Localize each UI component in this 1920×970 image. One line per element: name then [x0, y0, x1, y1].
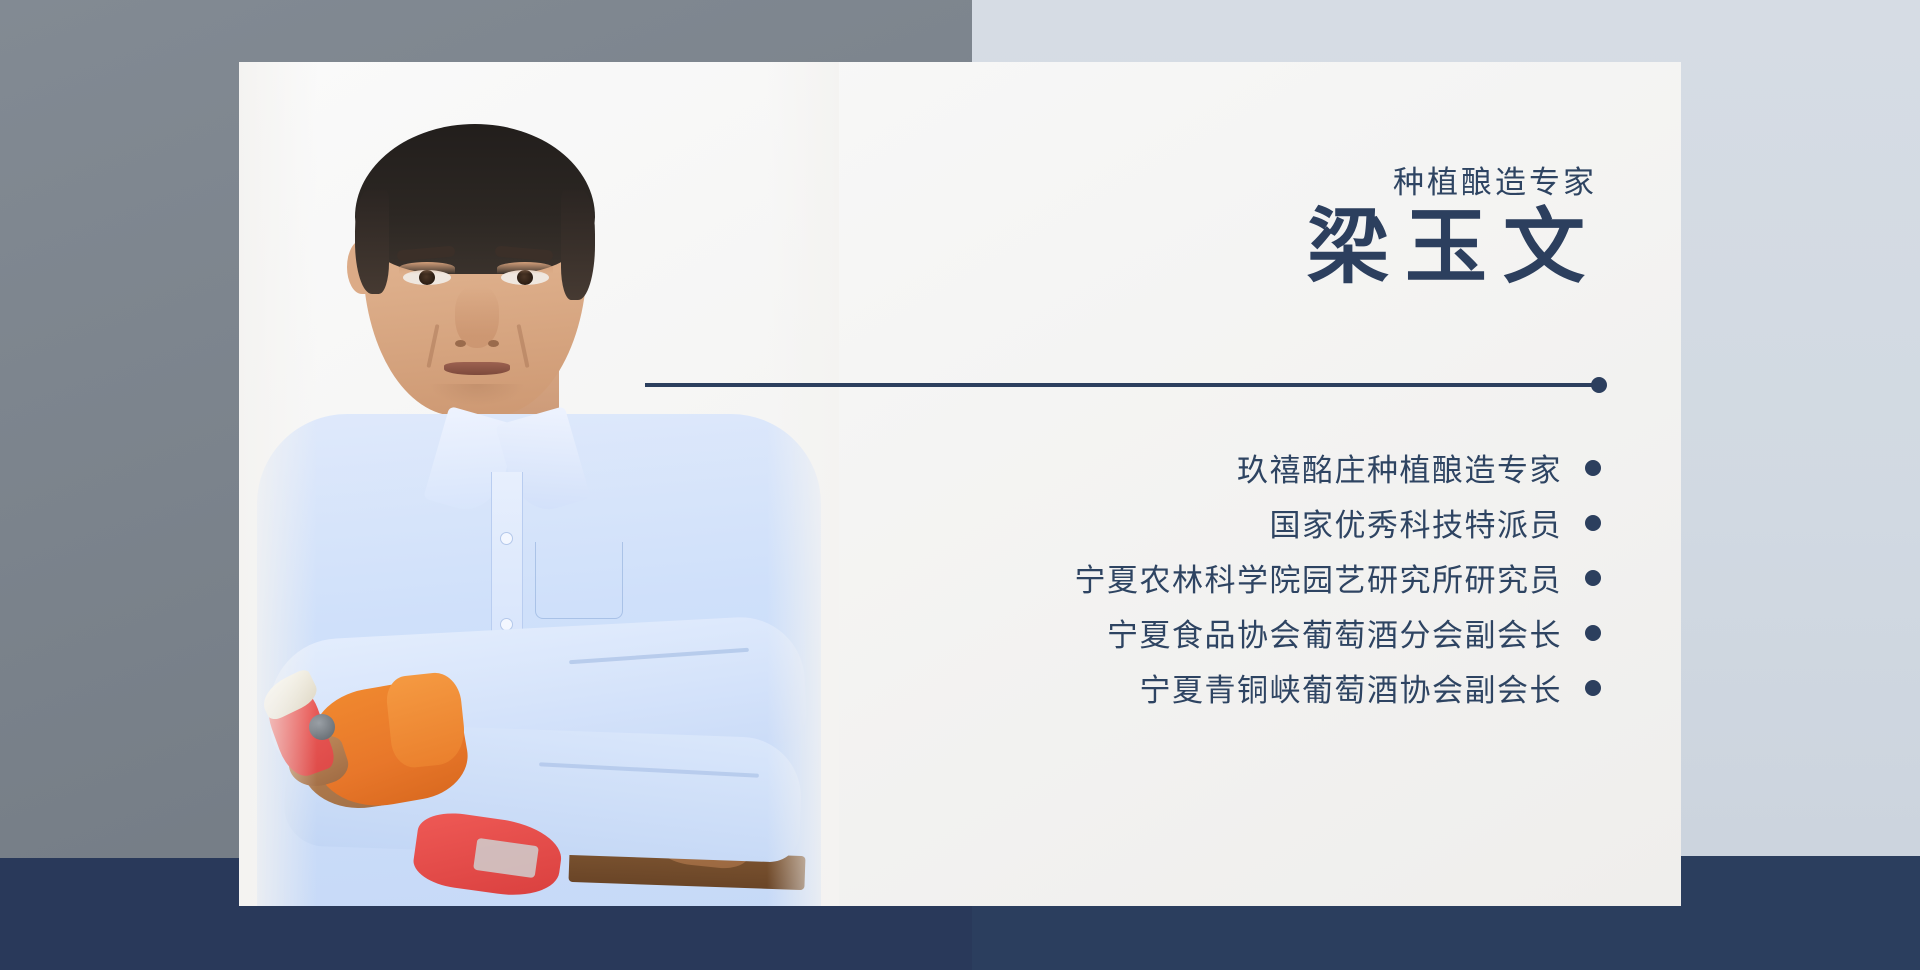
- portrait-eyelid-left: [399, 262, 455, 274]
- credentials-list: 玖禧酩庄种植酿造专家 国家优秀科技特派员 宁夏农林科学院园艺研究所研究员 宁夏食…: [701, 440, 1601, 715]
- bullet-dot-icon: [1585, 570, 1601, 586]
- pruning-shears-pivot: [309, 714, 335, 740]
- portrait-shirt-pocket: [535, 542, 623, 619]
- divider-end-dot-icon: [1591, 377, 1607, 393]
- bullet-dot-icon: [1585, 515, 1601, 531]
- list-item: 宁夏农林科学院园艺研究所研究员: [701, 550, 1601, 605]
- list-item: 宁夏青铜峡葡萄酒协会副会长: [701, 660, 1601, 715]
- portrait-hair-side-left: [355, 190, 389, 294]
- divider-line: [645, 383, 1601, 387]
- list-item: 玖禧酩庄种植酿造专家: [701, 440, 1601, 495]
- portrait-hair: [355, 124, 595, 274]
- credential-label: 玖禧酩庄种植酿造专家: [1237, 445, 1562, 490]
- portrait-eyelid-right: [497, 262, 553, 274]
- portrait-hair-side-right: [561, 190, 595, 300]
- poster-canvas: 种植酿造专家 梁玉文 玖禧酩庄种植酿造专家 国家优秀科技特派员 宁夏农林科学院园…: [0, 0, 1920, 970]
- bullet-dot-icon: [1585, 625, 1601, 641]
- portrait-nostril-right: [488, 340, 499, 347]
- bullet-dot-icon: [1585, 460, 1601, 476]
- profile-card: 种植酿造专家 梁玉文 玖禧酩庄种植酿造专家 国家优秀科技特派员 宁夏农林科学院园…: [239, 62, 1681, 906]
- list-item: 国家优秀科技特派员: [701, 495, 1601, 550]
- portrait-glove-cuff: [384, 670, 467, 769]
- portrait-nose: [455, 286, 499, 348]
- bullet-dot-icon: [1585, 680, 1601, 696]
- list-item: 宁夏食品协会葡萄酒分会副会长: [701, 605, 1601, 660]
- portrait-shirt-button-upper: [500, 532, 513, 545]
- credential-label: 宁夏食品协会葡萄酒分会副会长: [1107, 610, 1562, 655]
- expert-name: 梁玉文: [1291, 202, 1601, 294]
- portrait-chin-shadow: [429, 384, 525, 406]
- portrait-mouth: [444, 362, 510, 375]
- credential-label: 宁夏农林科学院园艺研究所研究员: [1075, 555, 1563, 600]
- expert-role-eyebrow: 种植酿造专家: [1393, 157, 1597, 202]
- credential-label: 国家优秀科技特派员: [1270, 500, 1563, 545]
- portrait-nostril-left: [455, 340, 466, 347]
- credential-label: 宁夏青铜峡葡萄酒协会副会长: [1140, 665, 1563, 710]
